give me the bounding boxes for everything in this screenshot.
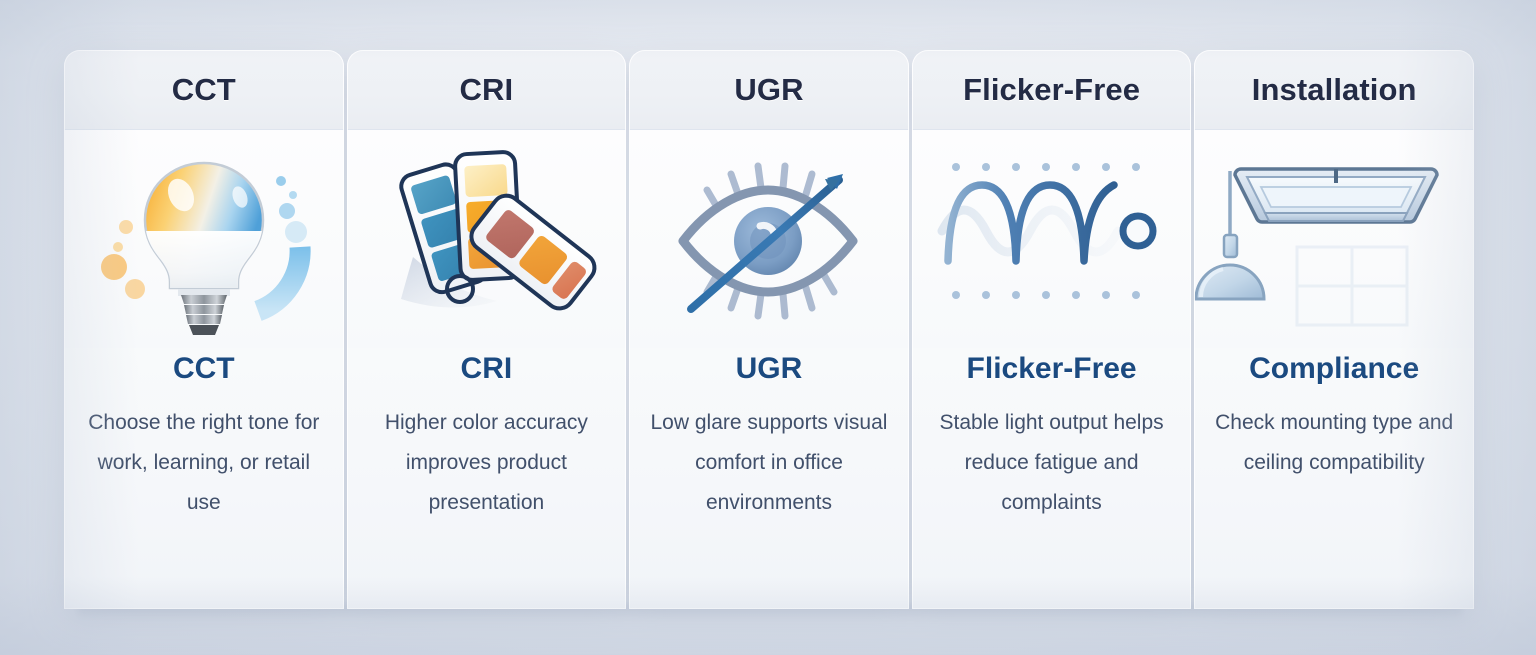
card-body-heading: CRI: [461, 352, 513, 386]
lightbulb-warm-cool-icon: [88, 139, 320, 339]
card-body-text: Higher color accuracy improves product p…: [361, 403, 613, 523]
card-body-text: Choose the right tone for work, learning…: [78, 403, 330, 523]
body-zone-cct: CCT Choose the right tone for work, lear…: [64, 348, 344, 609]
card-header-cri: CRI: [347, 50, 627, 130]
feature-card-cct[interactable]: CCT: [64, 50, 344, 609]
card-header-title: Installation: [1252, 72, 1417, 108]
card-header-ugr: UGR: [629, 50, 909, 130]
feature-card-ugr[interactable]: UGR: [629, 50, 909, 609]
icon-zone-ugr: [629, 130, 909, 348]
color-swatch-fan-icon: [371, 139, 601, 339]
icon-zone-cct: [64, 130, 344, 348]
icon-zone-installation: [1194, 130, 1474, 348]
feature-card-cri[interactable]: CRI: [347, 50, 627, 609]
body-zone-cri: CRI Higher color accuracy improves produ…: [347, 348, 627, 609]
feature-card-row: CCT: [64, 50, 1474, 609]
card-body-heading: CCT: [173, 352, 235, 386]
eye-no-glare-icon: [661, 144, 876, 334]
card-body-text: Check mounting type and ceiling compatib…: [1208, 403, 1460, 483]
body-zone-ugr: UGR Low glare supports visual comfort in…: [629, 348, 909, 609]
card-body-heading: Flicker-Free: [967, 352, 1137, 386]
card-header-flicker-free: Flicker-Free: [912, 50, 1192, 130]
card-header-title: Flicker-Free: [963, 72, 1140, 108]
card-body-text: Low glare supports visual comfort in off…: [643, 403, 895, 523]
card-header-installation: Installation: [1194, 50, 1474, 130]
icon-zone-cri: [347, 130, 627, 348]
icon-zone-flicker-free: [912, 130, 1192, 348]
card-body-heading: Compliance: [1249, 352, 1419, 386]
card-body-heading: UGR: [736, 352, 803, 386]
ceiling-panel-and-pendant-lamp-icon: [1194, 147, 1474, 332]
card-body-text: Stable light output helps reduce fatigue…: [926, 403, 1178, 523]
body-zone-installation: Compliance Check mounting type and ceili…: [1194, 348, 1474, 609]
card-header-cct: CCT: [64, 50, 344, 130]
card-header-title: CCT: [172, 72, 236, 108]
feature-card-flicker-free[interactable]: Flicker-Free: [912, 50, 1192, 609]
card-header-title: UGR: [734, 72, 803, 108]
waveform-to-flat-line-icon: [934, 149, 1169, 329]
card-header-title: CRI: [460, 72, 514, 108]
body-zone-flicker-free: Flicker-Free Stable light output helps r…: [912, 348, 1192, 609]
feature-card-installation[interactable]: Installation: [1194, 50, 1474, 609]
